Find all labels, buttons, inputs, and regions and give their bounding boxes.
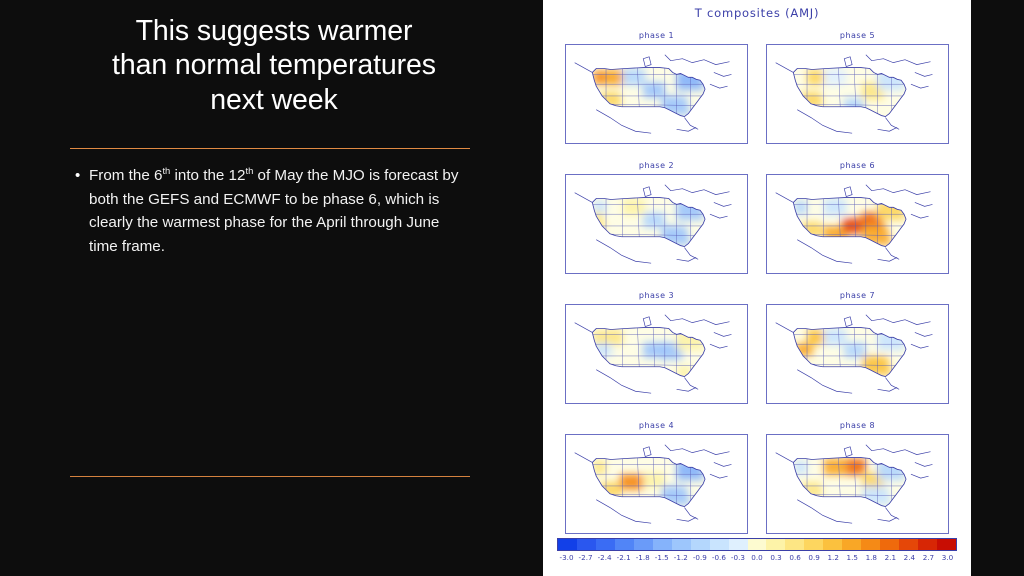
colorbar-swatch: [729, 539, 748, 550]
map-frame: [766, 174, 949, 274]
colorbar-swatch: [634, 539, 653, 550]
colorbar-swatch: [766, 539, 785, 550]
slide-canvas: This suggests warmer than normal tempera…: [0, 0, 1024, 576]
panel-label: phase 6: [766, 161, 949, 170]
bullet-text: From the 6th into the 12th of May the MJ…: [89, 164, 472, 258]
colorbar-swatch: [842, 539, 861, 550]
colorbar-tick: -3.0: [560, 553, 574, 562]
title-block: This suggests warmer than normal tempera…: [40, 14, 508, 117]
colorbar-swatch: [615, 539, 634, 550]
colorbar-tick: 0.3: [770, 553, 781, 562]
colorbar-tick-labels: -3.0-2.7-2.4-2.1-1.8-1.5-1.2-0.9-0.6-0.3…: [557, 553, 957, 565]
body-content: • From the 6th into the 12th of May the …: [72, 164, 472, 258]
bullet-text-part-1: From the 6: [89, 167, 162, 184]
figure-title: T composites (AMJ): [543, 6, 971, 20]
colorbar-tick: 1.2: [827, 553, 838, 562]
map-panel-phase-4: phase 4: [565, 434, 748, 534]
colorbar-swatch: [823, 539, 842, 550]
colorbar-swatch: [710, 539, 729, 550]
colorbar-swatch: [596, 539, 615, 550]
map-panel-phase-2: phase 2: [565, 174, 748, 274]
colorbar-tick: -2.7: [579, 553, 593, 562]
colorbar-swatch: [748, 539, 767, 550]
map-frame: [565, 434, 748, 534]
colorbar-tick: 3.0: [942, 553, 953, 562]
bullet-marker: •: [72, 164, 89, 188]
figure-panel: T composites (AMJ) phase 1 phase 2 phase…: [543, 0, 971, 576]
panel-label: phase 2: [565, 161, 748, 170]
colorbar-gradient: [557, 538, 957, 551]
colorbar-swatch: [804, 539, 823, 550]
colorbar-swatch: [558, 539, 577, 550]
map-panel-phase-1: phase 1: [565, 44, 748, 144]
panel-label: phase 5: [766, 31, 949, 40]
colorbar-swatch: [861, 539, 880, 550]
map-frame: [766, 44, 949, 144]
title-divider: [70, 148, 470, 149]
bullet-text-part-2: into the 12: [170, 167, 245, 184]
colorbar-tick: 0.9: [808, 553, 819, 562]
colorbar-swatch: [785, 539, 804, 550]
colorbar-tick: -0.9: [693, 553, 707, 562]
panel-label: phase 4: [565, 421, 748, 430]
map-frame: [766, 434, 949, 534]
slide-number: 4: [959, 539, 965, 551]
colorbar: -3.0-2.7-2.4-2.1-1.8-1.5-1.2-0.9-0.6-0.3…: [557, 538, 957, 565]
colorbar-swatch: [918, 539, 937, 550]
colorbar-tick: 2.4: [904, 553, 915, 562]
colorbar-tick: -0.6: [712, 553, 726, 562]
panel-label: phase 3: [565, 291, 748, 300]
colorbar-swatch: [577, 539, 596, 550]
colorbar-swatch: [937, 539, 956, 550]
colorbar-tick: -1.2: [674, 553, 688, 562]
map-frame: [766, 304, 949, 404]
colorbar-swatch: [653, 539, 672, 550]
panel-label: phase 7: [766, 291, 949, 300]
colorbar-swatch: [880, 539, 899, 550]
colorbar-tick: 0.6: [789, 553, 800, 562]
panel-label: phase 1: [565, 31, 748, 40]
colorbar-tick: 1.5: [847, 553, 858, 562]
map-panel-phase-6: phase 6: [766, 174, 949, 274]
colorbar-tick: 2.1: [885, 553, 896, 562]
map-panel-phase-8: phase 8: [766, 434, 949, 534]
map-panel-phase-3: phase 3: [565, 304, 748, 404]
colorbar-tick: 2.7: [923, 553, 934, 562]
colorbar-tick: 1.8: [866, 553, 877, 562]
map-frame: [565, 44, 748, 144]
map-panel-phase-5: phase 5: [766, 44, 949, 144]
colorbar-tick: -2.1: [617, 553, 631, 562]
list-item: • From the 6th into the 12th of May the …: [72, 164, 472, 258]
colorbar-swatch: [672, 539, 691, 550]
colorbar-swatch: [899, 539, 918, 550]
colorbar-tick: -2.4: [598, 553, 612, 562]
page-title: This suggests warmer than normal tempera…: [40, 14, 508, 117]
colorbar-tick: -0.3: [731, 553, 745, 562]
map-frame: [565, 304, 748, 404]
panel-label: phase 8: [766, 421, 949, 430]
colorbar-tick: 0.0: [751, 553, 762, 562]
map-panel-phase-7: phase 7: [766, 304, 949, 404]
colorbar-swatch: [691, 539, 710, 550]
colorbar-tick: -1.8: [636, 553, 650, 562]
bottom-divider: [70, 476, 470, 477]
map-frame: [565, 174, 748, 274]
colorbar-tick: -1.5: [655, 553, 669, 562]
